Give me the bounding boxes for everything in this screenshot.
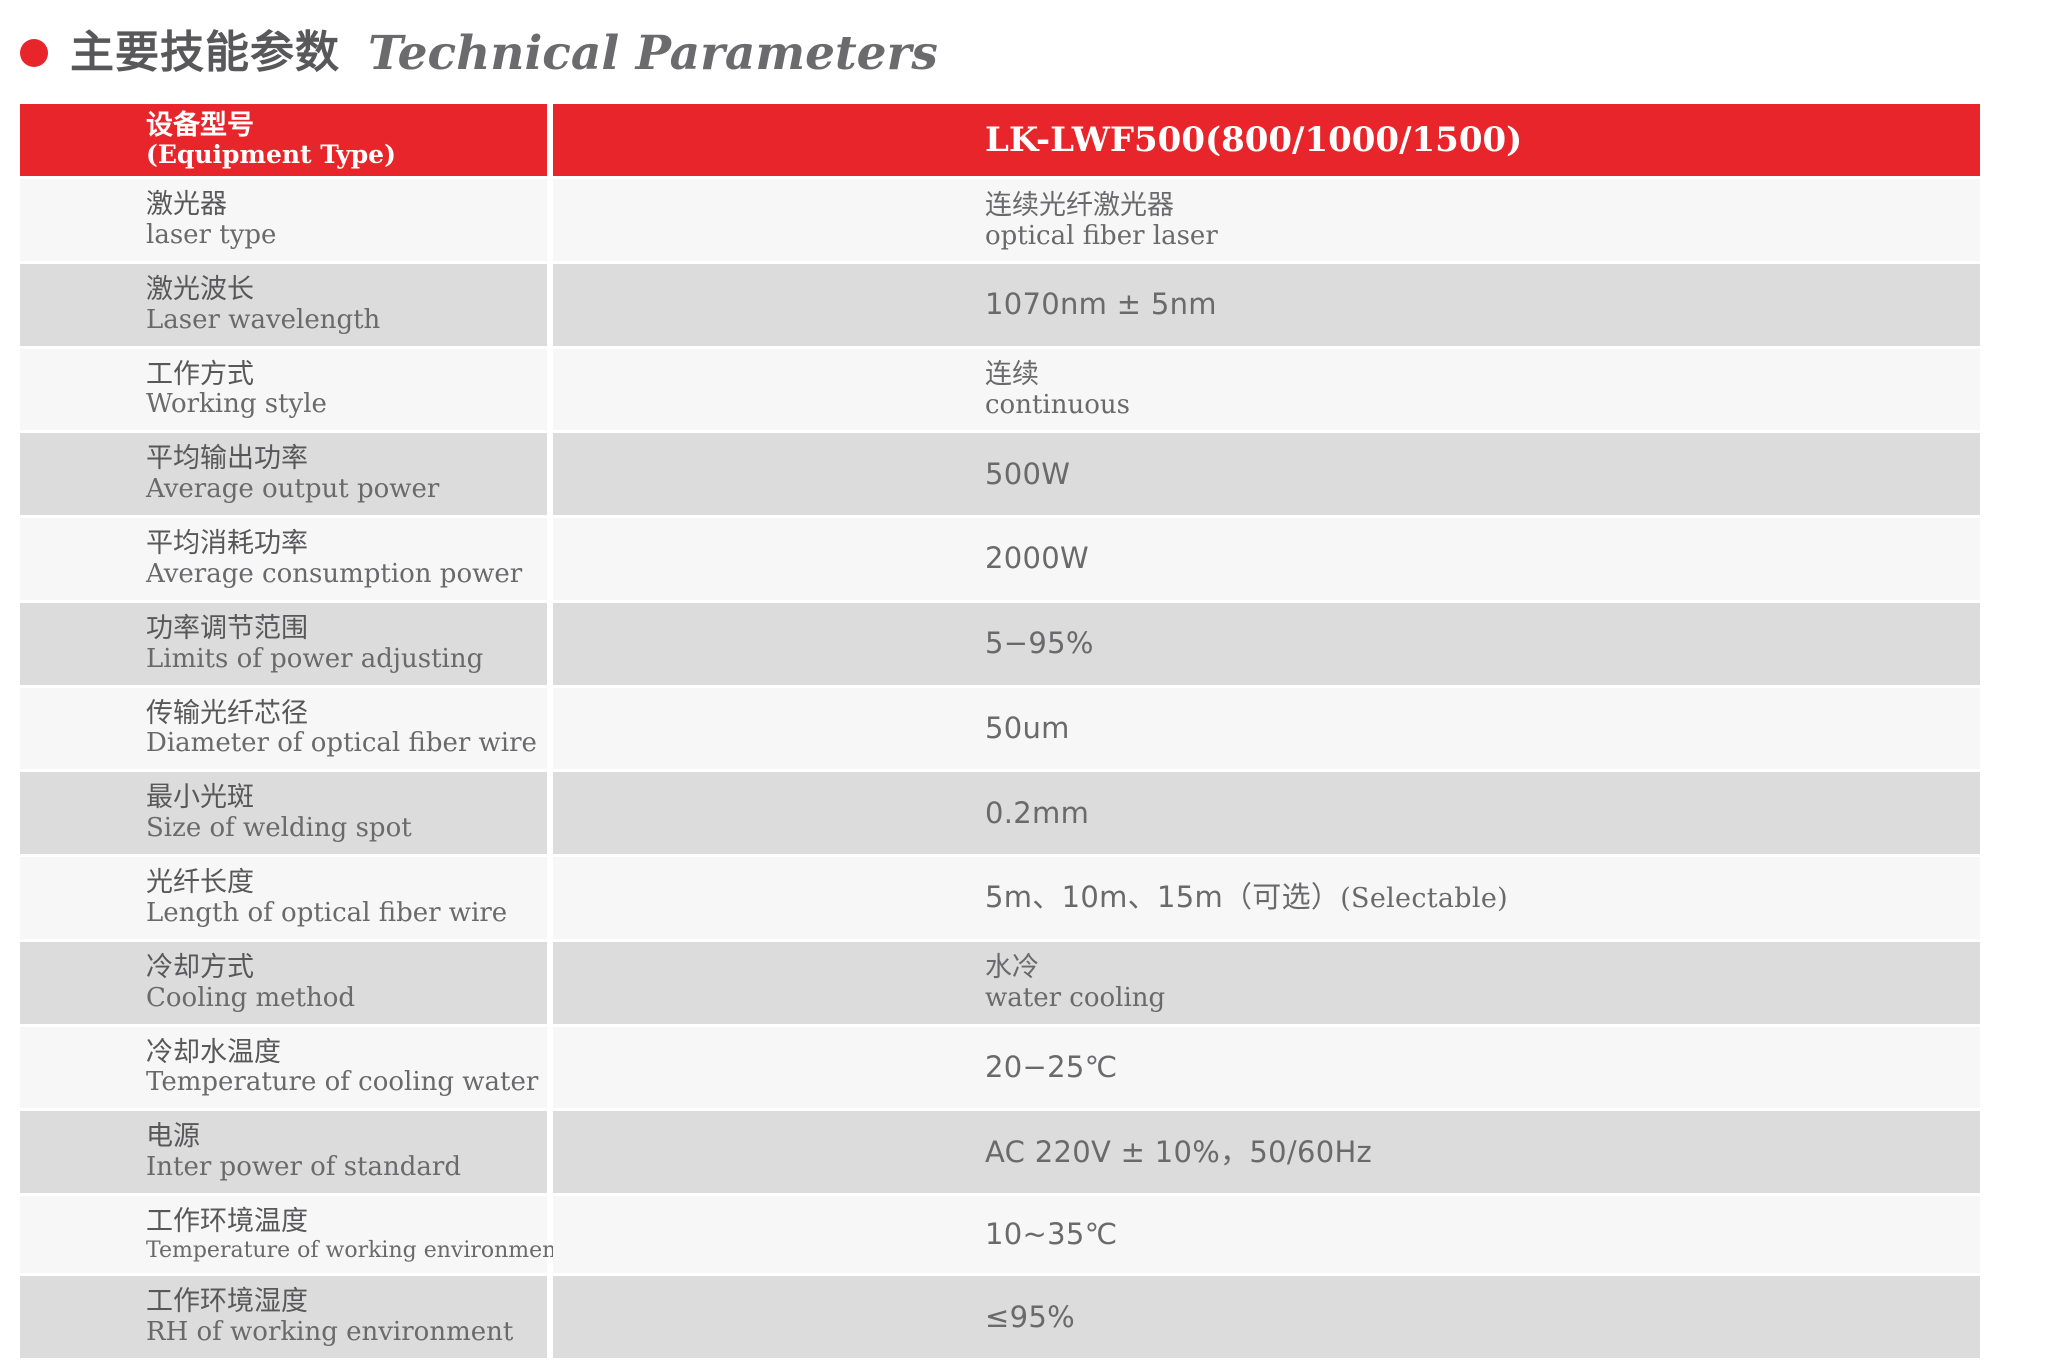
table-row: 平均输出功率Average output power500W [20, 433, 1980, 515]
row-value-main: 20−25℃ [985, 1050, 1117, 1084]
row-value: 50um [985, 711, 1980, 746]
row-value-main: 500W [985, 457, 1070, 491]
page-title: 主要技能参数 Technical Parameters [20, 18, 938, 88]
row-label-cell: 电源 Inter power of standard [20, 1111, 547, 1193]
row-label-cell: 工作环境湿度RH of working environment [20, 1276, 547, 1358]
row-value: 5m、10m、15m（可选）(Selectable) [985, 880, 1980, 915]
row-label-en: Average output power [146, 475, 547, 505]
row-label-cn: 工作环境湿度 [146, 1286, 547, 1318]
technical-parameters-page: 主要技能参数 Technical Parameters 设备型号 (Equipm… [0, 0, 2051, 1320]
table-row: 工作环境湿度RH of working environment≤95% [20, 1276, 1980, 1358]
row-value-main: 1070nm ± 5nm [985, 287, 1217, 321]
row-label-en: Diameter of optical fiber wire [146, 729, 547, 759]
row-label-cell: 冷却水温度Temperature of cooling water [20, 1027, 547, 1109]
row-value: 0.2mm [985, 796, 1980, 831]
row-label-en: Laser wavelength [146, 306, 547, 336]
table-row: 功率调节范围Limits of power adjusting5−95% [20, 603, 1980, 685]
row-value-cell: ≤95% [553, 1276, 1980, 1358]
row-value-cell: 10~35℃ [553, 1196, 1980, 1273]
row-label-cn: 平均输出功率 [146, 443, 547, 475]
row-label-cn: 最小光斑 [146, 782, 547, 814]
row-label-cell: 功率调节范围Limits of power adjusting [20, 603, 547, 685]
row-value-main: ≤95% [985, 1300, 1075, 1334]
row-label-cn: 工作方式 [146, 359, 547, 391]
row-value-main: 5m、10m、15m（可选） [985, 880, 1340, 914]
row-value-main: 10~35℃ [985, 1217, 1117, 1251]
table-header-value-cell: LK-LWF500(800/1000/1500) [553, 104, 1980, 176]
row-value: 1070nm ± 5nm [985, 287, 1980, 322]
row-value: 5−95% [985, 626, 1980, 661]
row-label-en: Size of welding spot [146, 814, 547, 844]
row-label-cell: 最小光斑Size of welding spot [20, 772, 547, 854]
row-value-cell: AC 220V ± 10%，50/60Hz [553, 1111, 1980, 1193]
table-header-label-cell: 设备型号 (Equipment Type) [20, 104, 547, 176]
header-label-en: (Equipment Type) [146, 141, 547, 170]
row-label-en: Length of optical fiber wire [146, 899, 547, 929]
equipment-model: LK-LWF500(800/1000/1500) [985, 123, 1980, 157]
row-label-en: Inter power of standard [146, 1153, 547, 1183]
row-value: AC 220V ± 10%，50/60Hz [985, 1135, 1980, 1170]
row-label-cn: 激光器 [146, 189, 547, 221]
table-row: 激光波长Laser wavelength1070nm ± 5nm [20, 264, 1980, 346]
bullet-icon [20, 39, 48, 67]
row-value: 500W [985, 457, 1980, 492]
row-value-cn: 水冷 [985, 952, 1980, 984]
row-label-cell: 传输光纤芯径Diameter of optical fiber wire [20, 688, 547, 770]
row-label-en: Limits of power adjusting [146, 645, 547, 675]
row-value-main: 5−95% [985, 626, 1094, 660]
page-title-cn: 主要技能参数 [70, 31, 340, 75]
table-row: 工作方式Working style连续continuous [20, 349, 1980, 431]
row-label-en: Cooling method [146, 984, 547, 1014]
row-label-en: Working style [146, 390, 547, 420]
header-label-cn: 设备型号 [146, 110, 547, 141]
table-row: 光纤长度Length of optical fiber wire5m、10m、1… [20, 857, 1980, 939]
row-value-cell: 5m、10m、15m（可选）(Selectable) [553, 857, 1980, 939]
row-value-cell: 连续continuous [553, 349, 1980, 431]
row-value-cell: 500W [553, 433, 1980, 515]
row-value-main: 50um [985, 711, 1070, 745]
row-value: ≤95% [985, 1300, 1980, 1335]
row-label-cn: 光纤长度 [146, 867, 547, 899]
row-value-cell: 50um [553, 688, 1980, 770]
row-label-cn: 电源 [146, 1121, 547, 1153]
row-value-tail: (Selectable) [1340, 883, 1508, 914]
row-label-cell: 工作方式Working style [20, 349, 547, 431]
row-value-cell: 2000W [553, 518, 1980, 600]
table-body: 激光器laser type连续光纤激光器optical fiber laser激… [20, 179, 1980, 1358]
table-row: 冷却方式Cooling method水冷water cooling [20, 942, 1980, 1024]
row-value-cn: 连续 [985, 359, 1980, 391]
row-value-en: continuous [985, 391, 1980, 420]
row-label-en: Temperature of working environment [146, 1238, 547, 1263]
row-value-cell: 5−95% [553, 603, 1980, 685]
row-label-cn: 工作环境温度 [146, 1206, 547, 1238]
row-value-en: water cooling [985, 984, 1980, 1013]
row-label-en: laser type [146, 221, 547, 251]
row-label-cn: 传输光纤芯径 [146, 698, 547, 730]
table-row: 激光器laser type连续光纤激光器optical fiber laser [20, 179, 1980, 261]
row-value-main: 0.2mm [985, 796, 1089, 830]
table-row: 工作环境温度Temperature of working environment… [20, 1196, 1980, 1273]
row-label-cell: 平均输出功率Average output power [20, 433, 547, 515]
row-value: 2000W [985, 541, 1980, 576]
row-value-cell: 1070nm ± 5nm [553, 264, 1980, 346]
row-value-en: optical fiber laser [985, 222, 1980, 251]
row-label-cell: 光纤长度Length of optical fiber wire [20, 857, 547, 939]
row-value-cell: 20−25℃ [553, 1027, 1980, 1109]
row-value-main: 2000W [985, 541, 1089, 575]
row-value-cn: 连续光纤激光器 [985, 190, 1980, 222]
table-row: 最小光斑Size of welding spot0.2mm [20, 772, 1980, 854]
row-label-cn: 平均消耗功率 [146, 528, 547, 560]
row-label-en: RH of working environment [146, 1318, 547, 1348]
row-value: 10~35℃ [985, 1217, 1980, 1252]
row-label-cell: 激光器laser type [20, 179, 547, 261]
table-row: 冷却水温度Temperature of cooling water20−25℃ [20, 1027, 1980, 1109]
row-label-cell: 冷却方式Cooling method [20, 942, 547, 1024]
row-value-cell: 水冷water cooling [553, 942, 1980, 1024]
row-label-cell: 平均消耗功率Average consumption power [20, 518, 547, 600]
row-value: 20−25℃ [985, 1050, 1980, 1085]
row-value-main: AC 220V ± 10%，50/60Hz [985, 1135, 1372, 1169]
table-row: 电源 Inter power of standardAC 220V ± 10%，… [20, 1111, 1980, 1193]
row-value-cell: 0.2mm [553, 772, 1980, 854]
specification-table: 设备型号 (Equipment Type) LK-LWF500(800/1000… [20, 104, 1980, 1361]
row-label-cn: 冷却水温度 [146, 1037, 547, 1069]
row-label-cn: 功率调节范围 [146, 613, 547, 645]
page-title-en: Technical Parameters [368, 30, 938, 77]
row-label-cn: 冷却方式 [146, 952, 547, 984]
row-label-cn: 激光波长 [146, 274, 547, 306]
table-header-row: 设备型号 (Equipment Type) LK-LWF500(800/1000… [20, 104, 1980, 176]
row-label-cell: 激光波长Laser wavelength [20, 264, 547, 346]
row-label-en: Average consumption power [146, 560, 547, 590]
row-label-en: Temperature of cooling water [146, 1068, 547, 1098]
table-row: 平均消耗功率Average consumption power2000W [20, 518, 1980, 600]
table-row: 传输光纤芯径Diameter of optical fiber wire50um [20, 688, 1980, 770]
row-value-cell: 连续光纤激光器optical fiber laser [553, 179, 1980, 261]
row-label-cell: 工作环境温度Temperature of working environment [20, 1196, 547, 1273]
